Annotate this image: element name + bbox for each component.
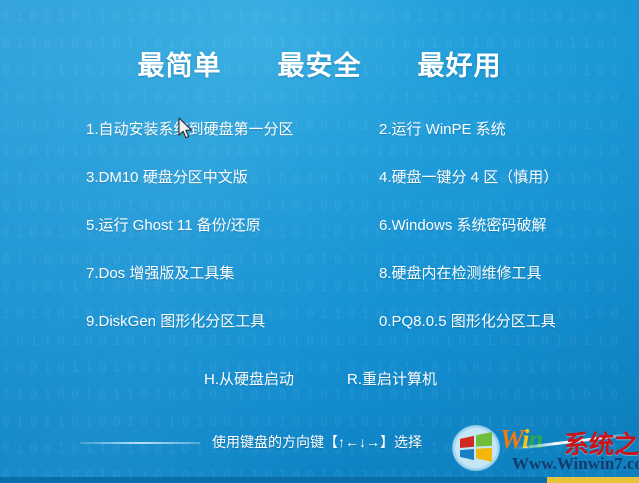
menu-item-4-quad-partition[interactable]: 4.硬盘一键分 4 区（慎用） <box>379 166 558 187</box>
menu-row: 7.Dos 增强版及工具集 8.硬盘内在检测维修工具 <box>0 256 639 304</box>
bottom-edge-accent <box>547 477 639 483</box>
menu-item-5-ghost11[interactable]: 5.运行 Ghost 11 备份/还原 <box>86 214 261 235</box>
brand-logo[interactable]: Win 系统之家 Www.Winwin7.com <box>452 421 639 481</box>
windows-flag-icon <box>452 425 500 471</box>
boot-menu-screen: 0100101101001011010010110100101101001011… <box>0 0 639 483</box>
slogan-row: 最简单 最安全 最好用 <box>0 44 639 83</box>
menu-item-3-dm10[interactable]: 3.DM10 硬盘分区中文版 <box>86 166 248 187</box>
footer-divider-line <box>80 442 200 444</box>
slogan-safest: 最安全 <box>278 44 362 83</box>
menu-item-2-winpe[interactable]: 2.运行 WinPE 系统 <box>379 118 506 139</box>
menu-row: 9.DiskGen 图形化分区工具 0.PQ8.0.5 图形化分区工具 <box>0 304 639 352</box>
bottom-edge-strip <box>0 477 639 483</box>
brand-letter-n: n <box>529 424 543 454</box>
menu-row: 5.运行 Ghost 11 备份/还原 6.Windows 系统密码破解 <box>0 208 639 256</box>
keyboard-hint-text: 使用键盘的方向键【↑←↓→】选择 <box>212 432 422 452</box>
menu-item-6-password-crack[interactable]: 6.Windows 系统密码破解 <box>379 214 547 235</box>
menu-row: 1.自动安装系统到硬盘第一分区 2.运行 WinPE 系统 <box>0 112 639 160</box>
slogan-simplest: 最简单 <box>138 44 222 83</box>
menu-list: 1.自动安装系统到硬盘第一分区 2.运行 WinPE 系统 3.DM10 硬盘分… <box>0 112 639 352</box>
slogan-best-used: 最好用 <box>418 44 502 83</box>
menu-row: 3.DM10 硬盘分区中文版 4.硬盘一键分 4 区（慎用） <box>0 160 639 208</box>
menu-item-7-dos-tools[interactable]: 7.Dos 增强版及工具集 <box>86 262 234 283</box>
menu-item-9-diskgen[interactable]: 9.DiskGen 图形化分区工具 <box>86 310 265 331</box>
menu-item-8-hdd-repair[interactable]: 8.硬盘内在检测维修工具 <box>379 262 542 283</box>
menu-item-1-auto-install[interactable]: 1.自动安装系统到硬盘第一分区 <box>86 118 294 139</box>
menu-item-r-restart[interactable]: R.重启计算机 <box>347 368 437 389</box>
menu-item-0-pq805[interactable]: 0.PQ8.0.5 图形化分区工具 <box>379 310 556 331</box>
brand-website-url: Www.Winwin7.com <box>512 454 639 474</box>
menu-item-h-boot-from-hdd[interactable]: H.从硬盘启动 <box>204 368 294 389</box>
